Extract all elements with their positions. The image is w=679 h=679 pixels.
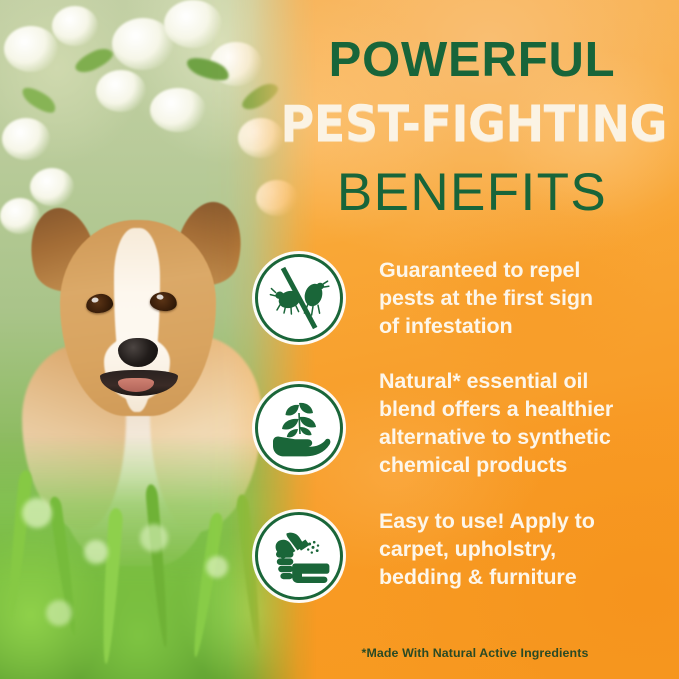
hand-holding-plant-icon xyxy=(255,384,343,472)
headline-line-powerful: POWERFUL xyxy=(286,36,658,85)
bokeh-decor xyxy=(206,556,228,578)
footnote: *Made With Natural Active Ingredients xyxy=(286,646,664,660)
blossom-decor xyxy=(2,118,50,160)
bokeh-decor xyxy=(140,524,168,552)
hand-applying-powder-icon xyxy=(255,512,343,600)
benefit-text-line: alternative to synthetic xyxy=(379,424,679,452)
benefit-text-line: Natural* essential oil xyxy=(379,368,679,396)
blossom-decor xyxy=(4,26,58,72)
benefit-text: Guaranteed to repel pests at the first s… xyxy=(379,254,679,341)
benefit-item: Guaranteed to repel pests at the first s… xyxy=(255,254,679,342)
headline-line-pest-fighting: PEST-FIGHTING xyxy=(280,99,663,149)
blossom-decor xyxy=(164,0,222,48)
headline-line-benefits: BENEFITS xyxy=(286,166,658,219)
benefit-text-line: of infestation xyxy=(379,313,679,341)
headline-block: POWERFUL PEST-FIGHTING BENEFITS xyxy=(286,36,658,219)
benefit-text-line: Easy to use! Apply to xyxy=(379,508,679,536)
benefits-list: Guaranteed to repel pests at the first s… xyxy=(255,254,679,600)
benefit-item: Easy to use! Apply to carpet, upholstry,… xyxy=(255,506,679,600)
blossom-decor xyxy=(52,6,98,46)
blossom-decor xyxy=(96,70,146,112)
no-pests-icon xyxy=(255,254,343,342)
benefit-text-line: carpet, upholstry, xyxy=(379,536,679,564)
benefit-text-line: bedding & furniture xyxy=(379,564,679,592)
bokeh-decor xyxy=(46,600,72,626)
bokeh-decor xyxy=(84,540,108,564)
benefit-item: Natural* essential oil blend offers a he… xyxy=(255,368,679,480)
pest-benefits-infographic: POWERFUL PEST-FIGHTING BENEFITS xyxy=(0,0,679,679)
bokeh-decor xyxy=(22,498,52,528)
benefit-text-line: pests at the first sign xyxy=(379,285,679,313)
benefit-text: Easy to use! Apply to carpet, upholstry,… xyxy=(379,506,679,592)
benefit-text-line: blend offers a healthier xyxy=(379,396,679,424)
blossom-decor xyxy=(238,118,284,158)
benefit-text: Natural* essential oil blend offers a he… xyxy=(379,368,679,480)
benefit-text-line: chemical products xyxy=(379,452,679,480)
blossom-decor xyxy=(150,88,206,132)
benefit-text-line: Guaranteed to repel xyxy=(379,257,679,285)
